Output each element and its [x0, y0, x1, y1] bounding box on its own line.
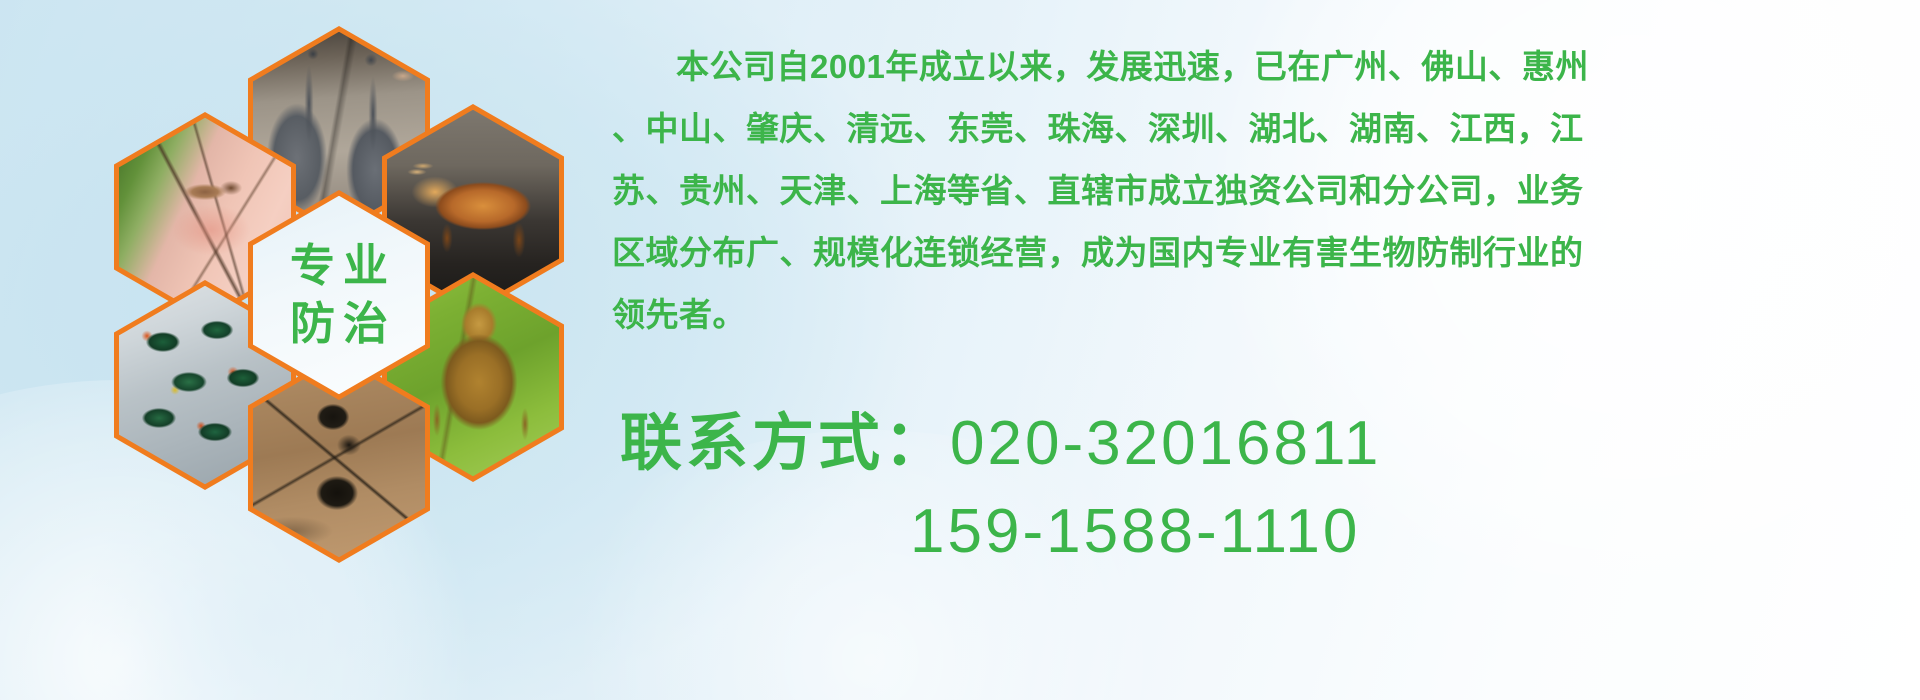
intro-line-5: 领先者。: [612, 284, 1902, 346]
intro-line-2: 、中山、肇庆、清远、东莞、珠海、深圳、湖北、湖南、江西，江: [612, 98, 1902, 160]
hexagon-photo-cluster: 专业 防治: [92, 8, 592, 568]
contact-line-primary: 联系方式：020-32016811: [620, 400, 1720, 488]
contact-block: 联系方式：020-32016811 159-1588-1110: [620, 400, 1720, 576]
contact-line-secondary: 159-1588-1110: [620, 488, 1720, 576]
intro-line-3: 苏、贵州、天津、上海等省、直辖市成立独资公司和分公司，业务: [612, 160, 1902, 222]
hex-cell-slogan-frame: 专业 防治: [253, 196, 425, 394]
slogan-text-box: 专业 防治: [253, 196, 425, 394]
slogan-line-1: 专业: [282, 243, 396, 288]
contact-phone-secondary[interactable]: 159-1588-1110: [910, 497, 1360, 566]
company-copy: 本公司自2001年成立以来，发展迅速，已在广州、佛山、惠州 、中山、肇庆、清远、…: [612, 36, 1902, 346]
contact-phone-primary[interactable]: 020-32016811: [950, 409, 1381, 478]
company-intro-paragraph: 本公司自2001年成立以来，发展迅速，已在广州、佛山、惠州 、中山、肇庆、清远、…: [612, 36, 1902, 346]
contact-label: 联系方式：: [620, 409, 950, 478]
intro-line-4: 区域分布广、规模化连锁经营，成为国内专业有害生物防制行业的: [612, 222, 1902, 284]
slogan-line-2: 防治: [282, 301, 396, 346]
intro-line-1: 本公司自2001年成立以来，发展迅速，已在广州、佛山、惠州: [612, 36, 1902, 98]
promo-banner: 专业 防治 本公司自2001年成立以来，发展迅速，已在广州、佛山、惠州 、中山、…: [0, 0, 1920, 700]
